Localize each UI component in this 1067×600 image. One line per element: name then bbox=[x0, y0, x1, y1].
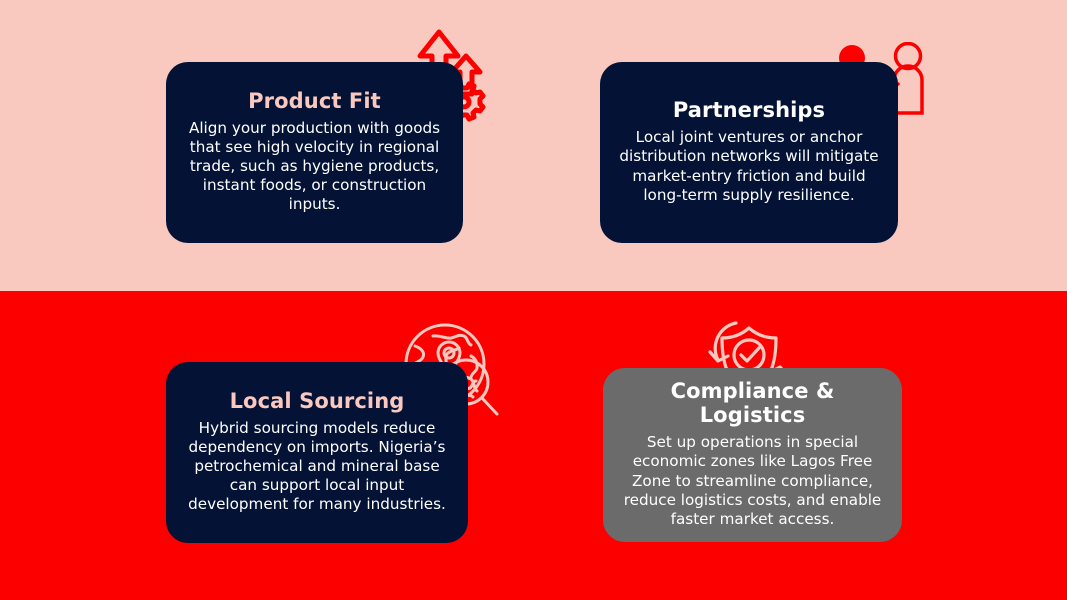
card-body-product-fit: Align your production with goods that se… bbox=[184, 119, 445, 215]
infographic-stage: Product Fit Align your production with g… bbox=[0, 0, 1067, 600]
card-local-sourcing[interactable]: Local Sourcing Hybrid sourcing models re… bbox=[166, 362, 468, 543]
card-title-local-sourcing: Local Sourcing bbox=[230, 389, 405, 413]
card-title-product-fit: Product Fit bbox=[248, 89, 381, 113]
card-title-compliance-logistics: Compliance & Logistics bbox=[621, 379, 884, 427]
card-product-fit[interactable]: Product Fit Align your production with g… bbox=[166, 62, 463, 243]
card-compliance-logistics[interactable]: Compliance & Logistics Set up operations… bbox=[603, 368, 902, 542]
background-band-top bbox=[0, 0, 1067, 291]
background-band-bottom bbox=[0, 291, 1067, 600]
card-title-partnerships: Partnerships bbox=[673, 98, 825, 122]
card-body-local-sourcing: Hybrid sourcing models reduce dependency… bbox=[184, 419, 450, 515]
card-body-partnerships: Local joint ventures or anchor distribut… bbox=[618, 128, 880, 205]
card-body-compliance-logistics: Set up operations in special economic zo… bbox=[621, 433, 884, 529]
card-partnerships[interactable]: Partnerships Local joint ventures or anc… bbox=[600, 62, 898, 243]
